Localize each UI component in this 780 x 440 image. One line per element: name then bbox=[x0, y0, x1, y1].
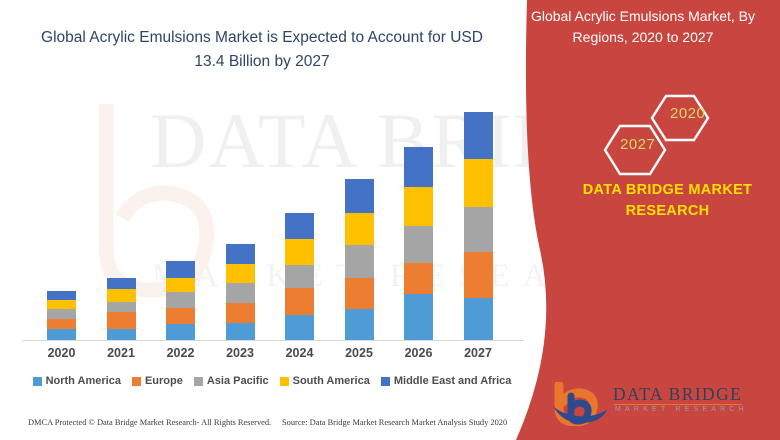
x-axis-label-2025: 2025 bbox=[329, 346, 389, 360]
bar-segment-2026-south-america bbox=[404, 187, 433, 226]
chart-legend: North AmericaEuropeAsia PacificSouth Ame… bbox=[22, 375, 522, 387]
bar-segment-2024-middle-east-and-africa bbox=[285, 213, 314, 239]
bar-2025 bbox=[345, 179, 374, 341]
bar-segment-2023-europe bbox=[226, 303, 255, 323]
company-logo: DATA BRIDGE MARKET RESEARCH bbox=[545, 382, 765, 426]
bar-segment-2024-europe bbox=[285, 288, 314, 315]
bar-segment-2021-middle-east-and-africa bbox=[107, 278, 136, 289]
bar-segment-2023-south-america bbox=[226, 264, 255, 283]
legend-swatch-icon bbox=[194, 377, 203, 386]
legend-item-north-america[interactable]: North America bbox=[33, 375, 121, 387]
legend-label: Middle East and Africa bbox=[394, 375, 512, 387]
bar-segment-2023-middle-east-and-africa bbox=[226, 244, 255, 264]
brand-name: DATA BRIDGE MARKET RESEARCH bbox=[560, 180, 775, 222]
footer-dmca-text: DMCA Protected © Data Bridge Market Rese… bbox=[28, 418, 271, 427]
panel-title: Global Acrylic Emulsions Market, By Regi… bbox=[512, 6, 774, 48]
bar-segment-2025-europe bbox=[345, 278, 374, 309]
bar-segment-2026-north-america bbox=[404, 294, 433, 341]
x-axis-label-2022: 2022 bbox=[151, 346, 211, 360]
logo-tagline: MARKET RESEARCH bbox=[615, 406, 748, 413]
bar-segment-2026-middle-east-and-africa bbox=[404, 147, 433, 187]
legend-swatch-icon bbox=[132, 377, 141, 386]
infographic-root: DATA BRIDGE MARKET RESEARCH Global Acryl… bbox=[0, 0, 780, 440]
x-axis-label-2020: 2020 bbox=[32, 346, 92, 360]
bar-segment-2025-south-america bbox=[345, 213, 374, 245]
bar-segment-2027-asia-pacific bbox=[464, 207, 493, 252]
bar-segment-2027-middle-east-and-africa bbox=[464, 112, 493, 159]
bar-segment-2025-north-america bbox=[345, 309, 374, 341]
bar-segment-2025-asia-pacific bbox=[345, 245, 374, 278]
logo-name: DATA BRIDGE bbox=[613, 384, 742, 405]
logo-b-mark-icon bbox=[545, 382, 615, 426]
bar-segment-2021-europe bbox=[107, 312, 136, 329]
x-axis-label-2021: 2021 bbox=[91, 346, 151, 360]
bar-segment-2022-asia-pacific bbox=[166, 292, 195, 308]
x-axis-label-2023: 2023 bbox=[210, 346, 270, 360]
x-axis-line bbox=[22, 340, 524, 341]
bar-2026 bbox=[404, 147, 433, 341]
x-axis-label-2026: 2026 bbox=[389, 346, 449, 360]
bar-segment-2022-north-america bbox=[166, 324, 195, 341]
legend-swatch-icon bbox=[33, 377, 42, 386]
bar-segment-2020-europe bbox=[47, 319, 76, 329]
x-axis-label-2024: 2024 bbox=[270, 346, 330, 360]
bar-2020 bbox=[47, 291, 76, 341]
bar-segment-2023-north-america bbox=[226, 323, 255, 341]
bar-segment-2027-north-america bbox=[464, 298, 493, 341]
bar-segment-2023-asia-pacific bbox=[226, 283, 255, 303]
bar-2021 bbox=[107, 278, 136, 341]
bar-segment-2020-asia-pacific bbox=[47, 309, 76, 319]
bar-segment-2024-north-america bbox=[285, 315, 314, 341]
hexagon-icons bbox=[594, 92, 734, 180]
bar-2027 bbox=[464, 112, 493, 341]
bar-segment-2025-middle-east-and-africa bbox=[345, 179, 374, 213]
bar-segment-2022-middle-east-and-africa bbox=[166, 261, 195, 278]
legend-label: North America bbox=[46, 375, 121, 387]
legend-label: Europe bbox=[145, 375, 183, 387]
bar-segment-2026-asia-pacific bbox=[404, 226, 433, 263]
page-title: Global Acrylic Emulsions Market is Expec… bbox=[36, 26, 488, 74]
hexagon-group: 2020 2027 bbox=[594, 92, 734, 180]
stacked-bar-chart bbox=[22, 96, 522, 341]
legend-label: Asia Pacific bbox=[207, 375, 269, 387]
bar-segment-2026-europe bbox=[404, 263, 433, 294]
legend-swatch-icon bbox=[280, 377, 289, 386]
bar-segment-2020-south-america bbox=[47, 300, 76, 309]
bar-2024 bbox=[285, 213, 314, 341]
legend-swatch-icon bbox=[381, 377, 390, 386]
bar-segment-2022-south-america bbox=[166, 278, 195, 292]
x-axis-label-2027: 2027 bbox=[448, 346, 508, 360]
bar-segment-2027-south-america bbox=[464, 159, 493, 207]
bar-2022 bbox=[166, 261, 195, 341]
x-axis-labels: 20202021202220232024202520262027 bbox=[22, 346, 522, 366]
bar-segment-2020-middle-east-and-africa bbox=[47, 291, 76, 300]
bar-segment-2027-europe bbox=[464, 252, 493, 298]
footer-source-text: Source: Data Bridge Market Research Mark… bbox=[282, 418, 507, 427]
legend-label: South America bbox=[293, 375, 370, 387]
legend-item-asia-pacific[interactable]: Asia Pacific bbox=[194, 375, 269, 387]
bar-segment-2024-asia-pacific bbox=[285, 265, 314, 288]
bar-2023 bbox=[226, 244, 255, 341]
legend-item-europe[interactable]: Europe bbox=[132, 375, 183, 387]
bar-segment-2021-asia-pacific bbox=[107, 302, 136, 312]
bar-segment-2021-south-america bbox=[107, 289, 136, 302]
legend-item-middle-east-and-africa[interactable]: Middle East and Africa bbox=[381, 375, 512, 387]
legend-item-south-america[interactable]: South America bbox=[280, 375, 370, 387]
hexagon-2020-label: 2020 bbox=[670, 105, 705, 122]
bar-segment-2024-south-america bbox=[285, 239, 314, 265]
bar-segment-2022-europe bbox=[166, 308, 195, 324]
hexagon-2027-label: 2027 bbox=[620, 136, 655, 153]
